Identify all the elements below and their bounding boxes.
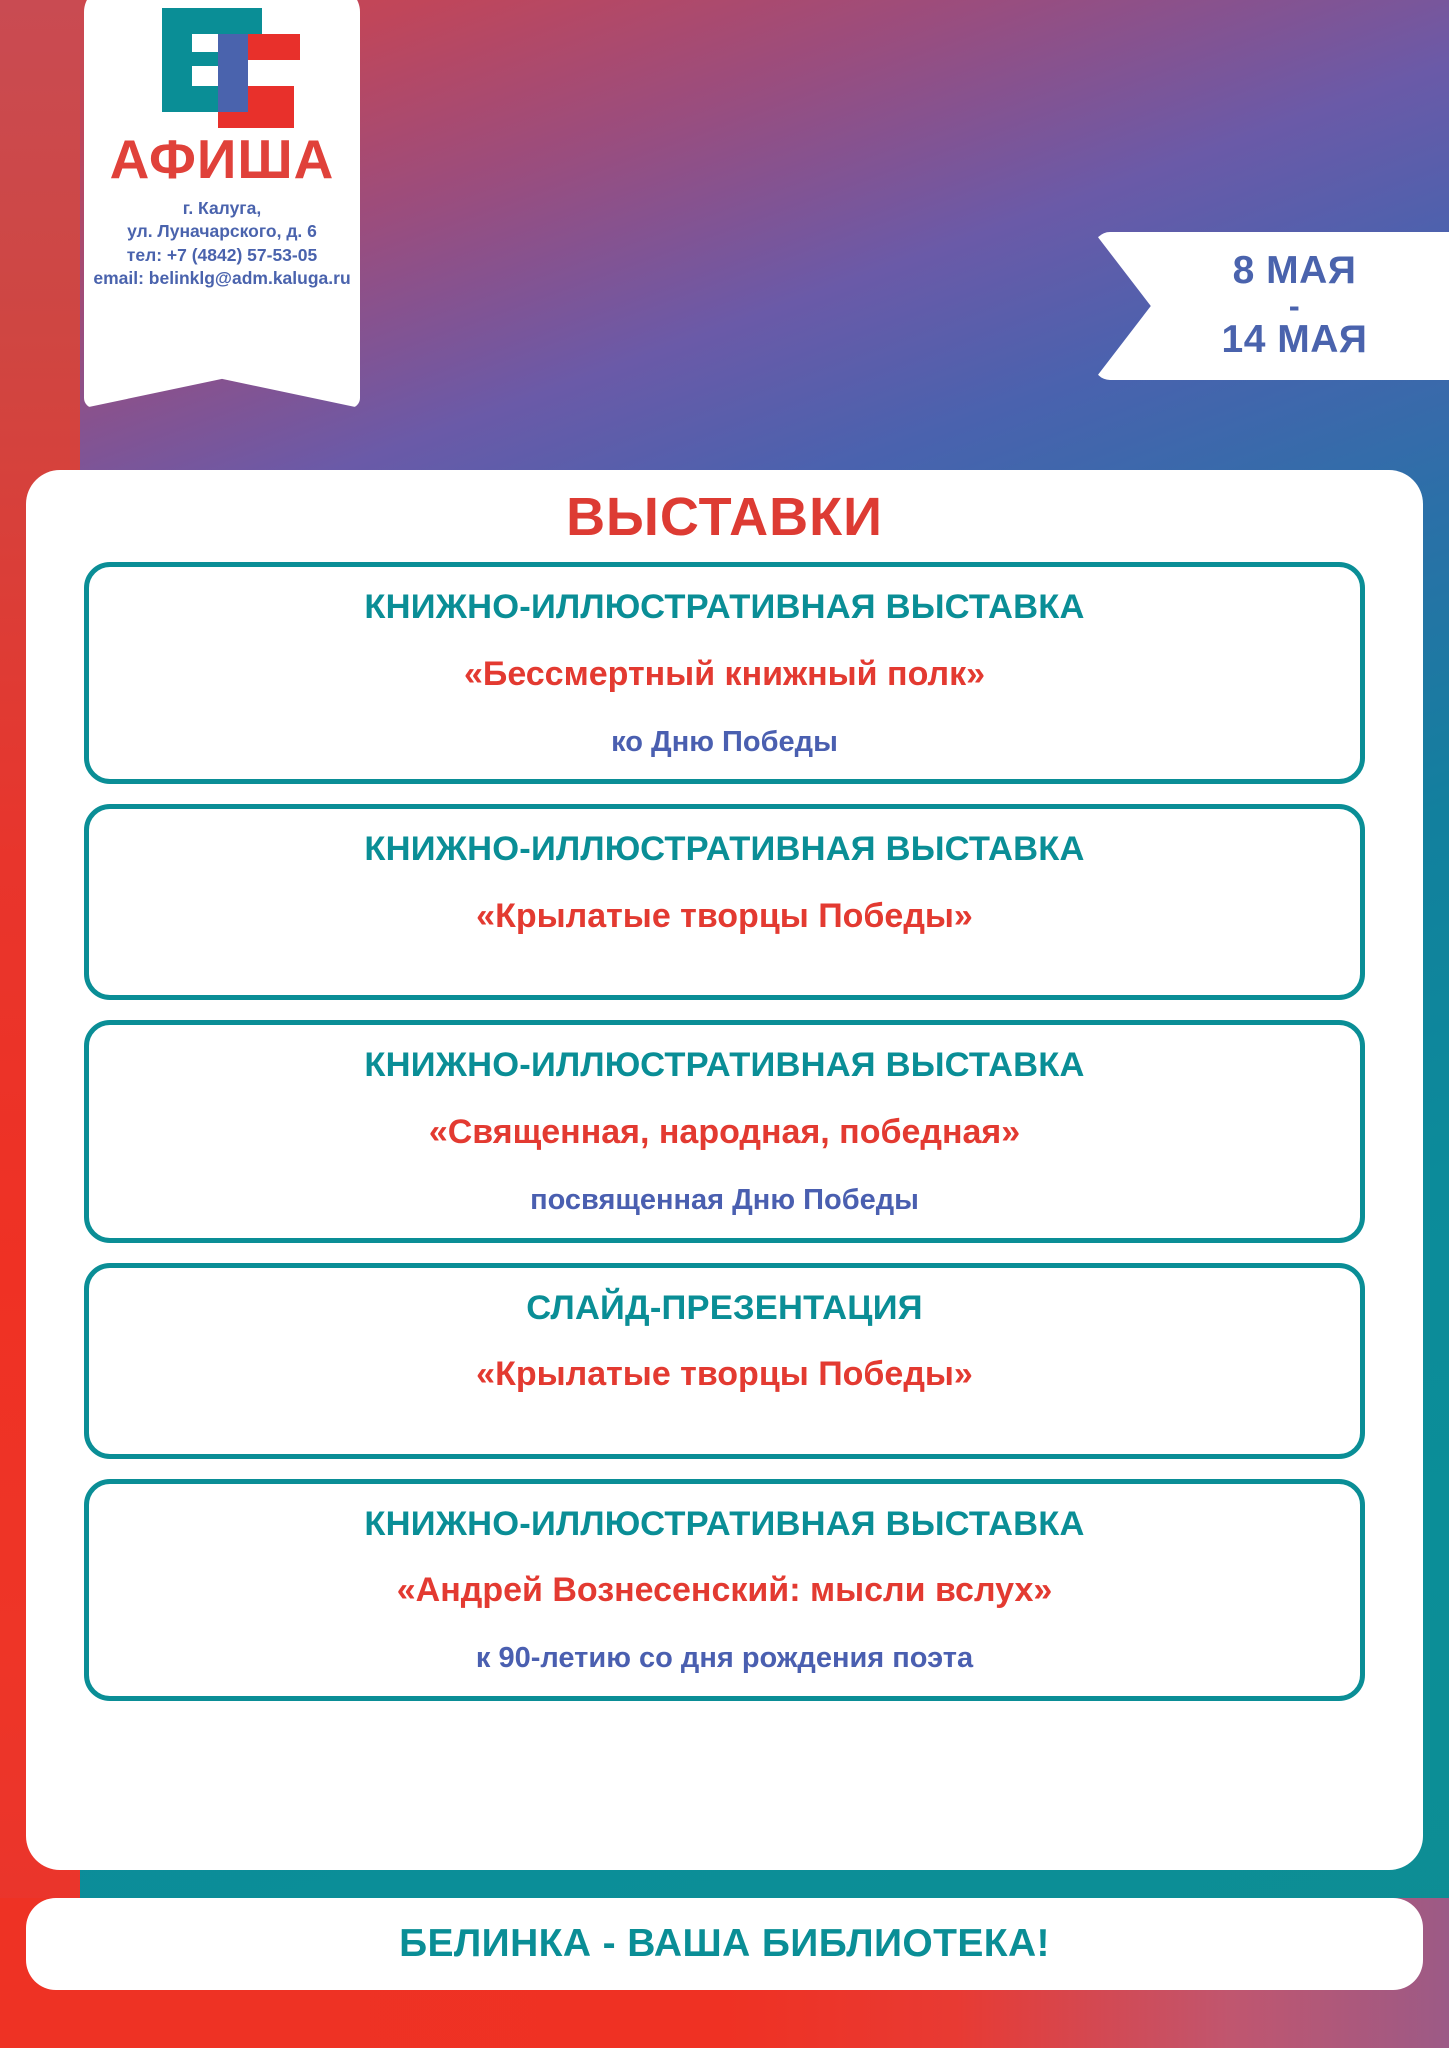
contact-street: ул. Луначарского, д. 6 (92, 220, 352, 243)
event-card-heading: КНИЖНО-ИЛЛЮСТРАТИВНАЯ ВЫСТАВКА (115, 1045, 1334, 1086)
footer-slogan: БЕЛИНКА - ВАША БИБЛИОТЕКА! (399, 1922, 1050, 1966)
event-card-subtitle: к 90-летию со дня рождения поэта (115, 1641, 1334, 1676)
contact-phone: тел: +7 (4842) 57-53-05 (92, 244, 352, 267)
date-end: 14 МАЯ (1176, 320, 1368, 361)
event-card-heading: КНИЖНО-ИЛЛЮСТРАТИВНАЯ ВЫСТАВКА (115, 1504, 1334, 1545)
contact-email: email: belinklg@adm.kaluga.ru (92, 267, 352, 290)
event-card[interactable]: КНИЖНО-ИЛЛЮСТРАТИВНАЯ ВЫСТАВКА «Священна… (84, 1020, 1365, 1242)
event-card-subtitle: ко Дню Победы (115, 725, 1334, 760)
contact-block: г. Калуга, ул. Луначарского, д. 6 тел: +… (84, 197, 360, 290)
date-badge: 8 МАЯ - 14 МАЯ (1094, 232, 1449, 380)
event-card[interactable]: КНИЖНО-ИЛЛЮСТРАТИВНАЯ ВЫСТАВКА «Бессмерт… (84, 562, 1365, 784)
event-card-title: «Священная, народная, победная» (115, 1112, 1334, 1153)
page-title: ВЫСТАВКИ (26, 486, 1423, 548)
event-card-title: «Андрей Вознесенский: мысли вслух» (115, 1570, 1334, 1611)
event-card-title: «Бессмертный книжный полк» (115, 654, 1334, 695)
event-card-title: «Крылатые творцы Победы» (115, 896, 1334, 937)
event-card-subtitle: посвященная Дню Победы (115, 1183, 1334, 1218)
event-card[interactable]: КНИЖНО-ИЛЛЮСТРАТИВНАЯ ВЫСТАВКА «Крылатые… (84, 804, 1365, 1000)
poster-root: АФИША г. Калуга, ул. Луначарского, д. 6 … (0, 0, 1449, 2048)
main-panel: ВЫСТАВКИ КНИЖНО-ИЛЛЮСТРАТИВНАЯ ВЫСТАВКА … (26, 470, 1423, 1870)
event-card[interactable]: СЛАЙД-ПРЕЗЕНТАЦИЯ «Крылатые творцы Побед… (84, 1263, 1365, 1459)
footer-bar: БЕЛИНКА - ВАША БИБЛИОТЕКА! (26, 1898, 1423, 1990)
event-card-heading: КНИЖНО-ИЛЛЮСТРАТИВНАЯ ВЫСТАВКА (115, 829, 1334, 870)
event-card-list: КНИЖНО-ИЛЛЮСТРАТИВНАЯ ВЫСТАВКА «Бессмерт… (26, 562, 1423, 1701)
logo-wordmark: АФИША (84, 132, 360, 187)
event-card-heading: КНИЖНО-ИЛЛЮСТРАТИВНАЯ ВЫСТАВКА (115, 587, 1334, 628)
event-card-title: «Крылатые творцы Победы» (115, 1354, 1334, 1395)
event-card[interactable]: КНИЖНО-ИЛЛЮСТРАТИВНАЯ ВЫСТАВКА «Андрей В… (84, 1479, 1365, 1701)
date-start: 8 МАЯ (1187, 251, 1357, 292)
contact-city: г. Калуга, (92, 197, 352, 220)
logo-ribbon: АФИША г. Калуга, ул. Луначарского, д. 6 … (84, 0, 360, 356)
event-card-heading: СЛАЙД-ПРЕЗЕНТАЦИЯ (115, 1288, 1334, 1329)
belinka-b-letter-logo-icon (144, 4, 300, 128)
date-separator: - (1243, 292, 1301, 320)
